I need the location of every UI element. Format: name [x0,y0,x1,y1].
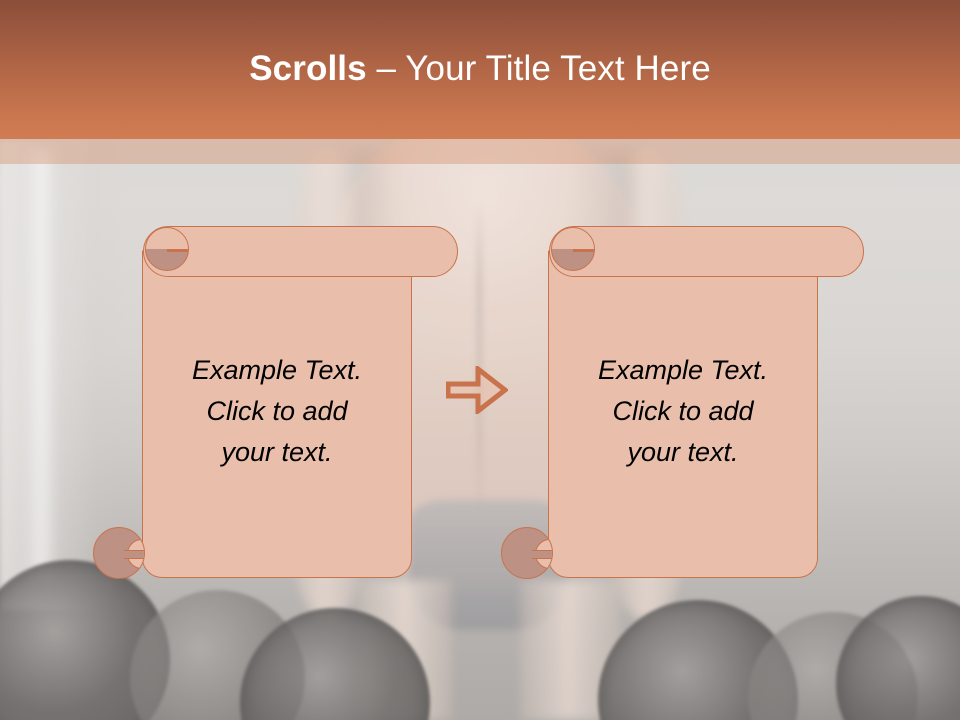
scroll-right-bottom-curl-notch-bar [532,550,553,559]
slide-canvas: Scrolls – Your Title Text Here Example T… [0,0,960,720]
scroll-right-bottom-curl-icon [501,527,553,579]
scroll-right-text-line: Click to add [558,391,808,432]
scroll-right-text-line: Example Text. [558,350,808,391]
scroll-right-top-roll [549,226,864,277]
scroll-right[interactable]: Example Text. Click to add your text. [0,0,960,720]
scroll-right-text-line: your text. [558,432,808,473]
scroll-right-top-curl-icon [551,227,595,271]
scroll-right-text[interactable]: Example Text. Click to add your text. [558,350,808,473]
